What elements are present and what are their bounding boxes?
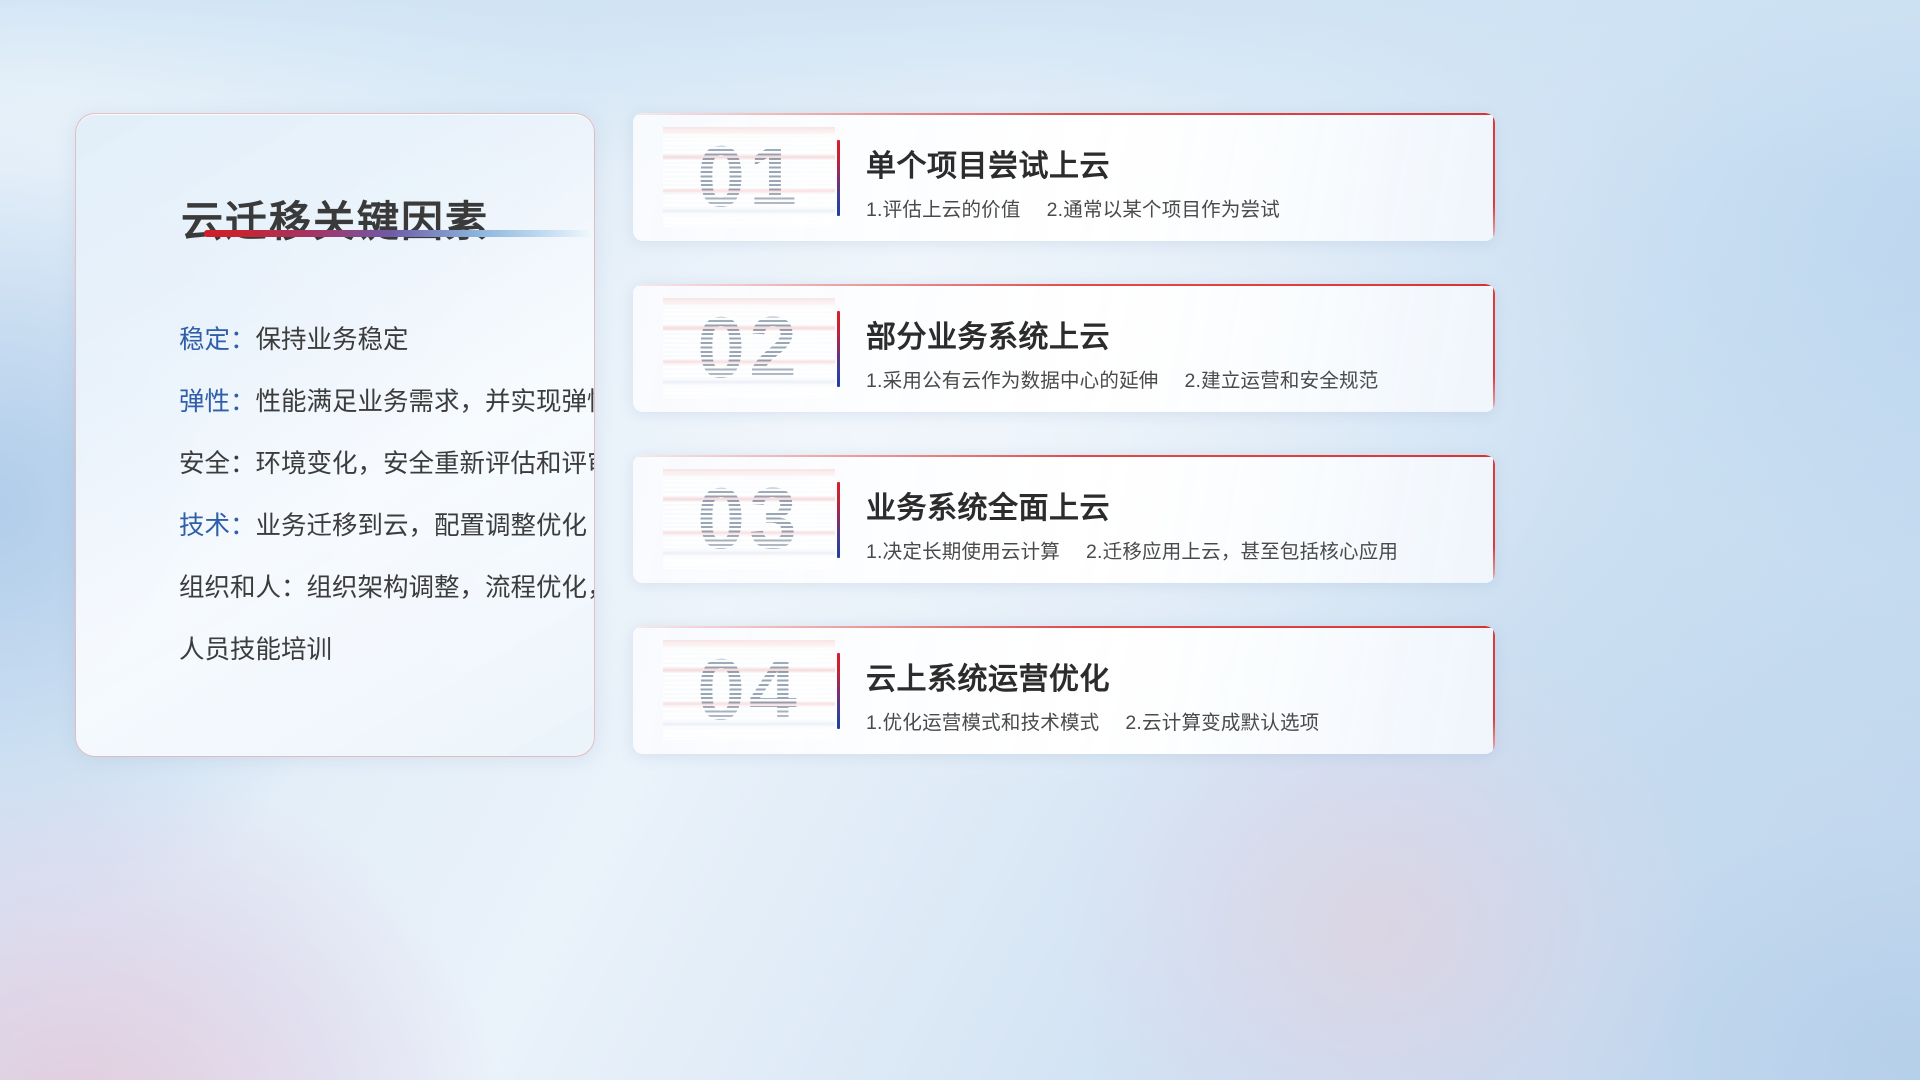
factor-text: 人员技能培训	[179, 636, 332, 664]
stage-number-glitch: 04	[663, 640, 835, 740]
factor-text: 性能满足业务需求，并实现弹性	[256, 388, 595, 416]
stage-title: 部分业务系统上云	[866, 312, 1110, 356]
factor-text: 保持业务稳定	[256, 326, 409, 354]
factor-text: 业务迁移到云，配置调整优化	[256, 512, 588, 540]
glitch-tint-overlay	[663, 127, 835, 227]
factor-row: 组织和人：组织架构调整，流程优化，	[179, 571, 576, 605]
stage-accent-bar	[837, 482, 840, 558]
factor-label: 技术：	[179, 512, 256, 540]
factor-row: 技术：业务迁移到云，配置调整优化	[179, 509, 576, 543]
glitch-fade-overlay	[663, 127, 835, 227]
stage-point-2: 2.建立运营和安全规范	[1184, 370, 1378, 392]
glitch-stripes-overlay	[663, 469, 835, 569]
stage-number-glitch: 02	[663, 298, 835, 398]
stage-point-2: 2.迁移应用上云，甚至包括核心应用	[1086, 541, 1398, 563]
stage-card-03[interactable]: 03 业务系统全面上云 1.决定长期使用云计算2.迁移应用上云，甚至包括核心应用	[633, 455, 1495, 583]
stage-number: 03	[663, 469, 835, 569]
page-title: 云迁移关键因素	[76, 188, 594, 249]
factor-label: 安全：	[179, 450, 256, 478]
stage-accent-bar	[837, 140, 840, 216]
glitch-fade-overlay	[663, 469, 835, 569]
glitch-stripes-overlay	[663, 298, 835, 398]
glitch-fade-overlay	[663, 298, 835, 398]
stage-title: 单个项目尝试上云	[866, 141, 1110, 185]
stage-description: 1.评估上云的价值2.通常以某个项目作为尝试	[866, 193, 1280, 222]
stage-card-04[interactable]: 04 云上系统运营优化 1.优化运营模式和技术模式2.云计算变成默认选项	[633, 626, 1495, 754]
factor-label: 弹性：	[179, 388, 256, 416]
glitch-tint-overlay	[663, 640, 835, 740]
factor-row: 稳定：保持业务稳定	[179, 323, 576, 357]
glitch-stripes-overlay	[663, 127, 835, 227]
stage-description: 1.优化运营模式和技术模式2.云计算变成默认选项	[866, 706, 1319, 735]
factor-label: 组织和人：	[179, 574, 307, 602]
stage-card-02[interactable]: 02 部分业务系统上云 1.采用公有云作为数据中心的延伸2.建立运营和安全规范	[633, 284, 1495, 412]
factor-row: 安全：环境变化，安全重新评估和评审	[179, 447, 576, 481]
factor-text: 组织架构调整，流程优化，	[307, 574, 595, 602]
stage-point-1: 1.评估上云的价值	[866, 199, 1021, 221]
glitch-tint-overlay	[663, 469, 835, 569]
glitch-tint-overlay	[663, 298, 835, 398]
stage-number-glitch: 01	[663, 127, 835, 227]
stage-description: 1.决定长期使用云计算2.迁移应用上云，甚至包括核心应用	[866, 535, 1398, 564]
stage-number: 02	[663, 298, 835, 398]
glitch-fade-overlay	[663, 640, 835, 740]
factor-row: 弹性：性能满足业务需求，并实现弹性	[179, 385, 576, 419]
glitch-stripes-overlay	[663, 640, 835, 740]
stage-point-1: 1.采用公有云作为数据中心的延伸	[866, 370, 1158, 392]
key-factors-panel: 云迁移关键因素 稳定：保持业务稳定 弹性：性能满足业务需求，并实现弹性 安全：环…	[75, 113, 595, 757]
stage-point-1: 1.优化运营模式和技术模式	[866, 712, 1099, 734]
factor-row-continued: 人员技能培训	[179, 633, 576, 667]
stage-accent-bar	[837, 653, 840, 729]
stage-card-01[interactable]: 01 单个项目尝试上云 1.评估上云的价值2.通常以某个项目作为尝试	[633, 113, 1495, 241]
stage-title: 云上系统运营优化	[866, 654, 1110, 698]
stage-number-glitch: 03	[663, 469, 835, 569]
stage-number: 04	[663, 640, 835, 740]
stage-number: 01	[663, 127, 835, 227]
stage-point-2: 2.通常以某个项目作为尝试	[1047, 199, 1280, 221]
stage-description: 1.采用公有云作为数据中心的延伸2.建立运营和安全规范	[866, 364, 1378, 393]
factor-label: 稳定：	[179, 326, 256, 354]
factor-text: 环境变化，安全重新评估和评审	[256, 450, 595, 478]
stage-title: 业务系统全面上云	[866, 483, 1110, 527]
stage-point-2: 2.云计算变成默认选项	[1125, 712, 1319, 734]
stage-accent-bar	[837, 311, 840, 387]
title-underline-rule	[204, 230, 592, 237]
stage-point-1: 1.决定长期使用云计算	[866, 541, 1060, 563]
